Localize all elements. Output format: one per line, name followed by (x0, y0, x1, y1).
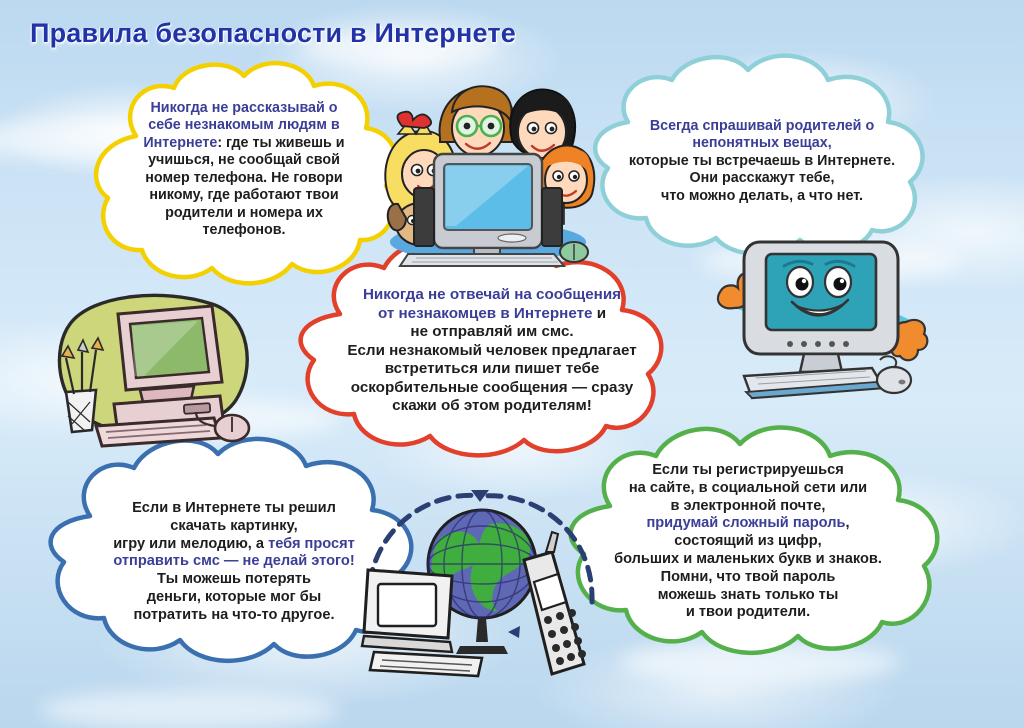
body-text: и (592, 305, 606, 322)
body-text: потратить на что-то другое. (133, 607, 334, 623)
cloud-text-line: Помни, что твой пароль (582, 569, 914, 587)
mascot-keyboard (744, 368, 884, 398)
cloud-text-line: учишься, не сообщай свой (104, 152, 384, 169)
body-text: оскорбительные сообщения — сразу (351, 379, 634, 396)
cloud-text-line: больших и маленьких букв и знаков. (582, 551, 914, 569)
cloud-text-line: в электронной почте, (582, 498, 914, 516)
highlighted-text: себе незнакомым людям в (148, 117, 339, 133)
cloud-text-line: можешь знать только ты (582, 587, 914, 605)
highlighted-text: непонятных вещах, (692, 135, 831, 151)
body-text: на сайте, в социальной сети или (629, 480, 867, 496)
cloud-text-line: встретиться или пишет тебе (304, 360, 680, 379)
cloud-text-line: никому, где работают твои (104, 187, 384, 204)
highlighted-text: отправить смс — не делай этого! (113, 553, 354, 569)
body-text: состоящий из цифр, (674, 533, 821, 549)
body-text: : где ты живешь и (217, 135, 344, 151)
body-text: что можно делать, а что нет. (661, 188, 863, 204)
cloud-text-line: Всегда спрашивай родителей о (598, 118, 926, 135)
cloud-text-line: состоящий из цифр, (582, 533, 914, 551)
body-text: номер телефона. Не говори (145, 170, 342, 186)
cloud-text-line: скачать картинку, (72, 518, 396, 536)
cloud-text-line: придумай сложный пароль, (582, 515, 914, 533)
cloud-text-line: Никогда не рассказывай о (104, 100, 384, 117)
cloud-text-line: от незнакомцев в Интернете и (304, 305, 680, 324)
body-text: телефонов. (203, 222, 286, 238)
body-text: Если в Интернете ты решил (132, 500, 336, 516)
body-text: в электронной почте, (671, 498, 826, 514)
body-text: больших и маленьких букв и знаков. (614, 551, 882, 567)
computer-mascot-illustration (716, 232, 926, 414)
body-text: Если незнакомый человек предлагает (347, 342, 636, 359)
body-text: деньги, которые мог бы (147, 589, 322, 605)
cloud-text-bottom-left: Если в Интернете ты решилскачать картинк… (72, 500, 396, 625)
cloud-text-line: игру или мелодию, а тебя просят (72, 536, 396, 554)
cloud-text-line: телефонов. (104, 222, 384, 239)
globe-network-illustration (356, 486, 604, 682)
cloud-text-line: оскорбительные сообщения — сразу (304, 379, 680, 398)
cloud-text-line: Никогда не отвечай на сообщения (304, 286, 680, 305)
body-text: никому, где работают твои (149, 187, 338, 203)
highlighted-text: Никогда не рассказывай о (150, 100, 337, 116)
body-text: Они расскажут тебе, (690, 170, 835, 186)
highlighted-text: придумай сложный пароль (646, 515, 845, 531)
cloud-text-line: которые ты встречаешь в Интернете. (598, 153, 926, 170)
highlighted-text: Интернете (143, 135, 217, 151)
highlighted-text: от незнакомцев в Интернете (378, 305, 593, 322)
keyboard (400, 254, 564, 266)
cloud-text-line: потратить на что-то другое. (72, 607, 396, 625)
kids-at-computer-illustration (378, 76, 594, 266)
cloud-text-line: на сайте, в социальной сети или (582, 480, 914, 498)
poster-canvas: Правила безопасности в Интернете (0, 0, 1024, 728)
cloud-text-line: Если в Интернете ты решил (72, 500, 396, 518)
body-text: Ты можешь потерять (157, 571, 311, 587)
cloud-text-line: и твои родители. (582, 604, 914, 622)
body-text: игру или мелодию, а (113, 536, 268, 552)
body-text: скажи об этом родителям! (392, 397, 592, 414)
body-text: встретиться или пишет тебе (385, 360, 600, 377)
cloud-text-line: деньги, которые мог бы (72, 589, 396, 607)
highlighted-text: Всегда спрашивай родителей о (650, 118, 874, 134)
cloud-text-line: Они расскажут тебе, (598, 170, 926, 187)
cloud-text-line: родители и номера их (104, 205, 384, 222)
body-text: , (845, 515, 849, 531)
body-text: учишься, не сообщай свой (148, 152, 340, 168)
body-text: Если ты регистрируешься (652, 462, 844, 478)
body-text: Помни, что твой пароль (661, 569, 836, 585)
body-text: которые ты встречаешь в Интернете. (629, 153, 895, 169)
cloud-text-line: Если ты регистрируешься (582, 462, 914, 480)
page-title: Правила безопасности в Интернете (30, 18, 516, 49)
mascot-mouse (877, 356, 911, 393)
cloud-text-line: Интернете: где ты живешь и (104, 135, 384, 152)
cloud-text-line: Ты можешь потерять (72, 571, 396, 589)
cloud-text-line: не отправляй им смс. (304, 323, 680, 342)
body-text: не отправляй им смс. (410, 323, 573, 340)
cloud-text-line: себе незнакомым людям в (104, 117, 384, 134)
cloud-text-line: что можно делать, а что нет. (598, 188, 926, 205)
body-text: и твои родители. (686, 604, 810, 620)
cloud-text-line: Если незнакомый человек предлагает (304, 342, 680, 361)
cloud-text-center: Никогда не отвечай на сообщенияот незнак… (304, 286, 680, 416)
cloud-text-line: номер телефона. Не говори (104, 170, 384, 187)
cloud-text-line: отправить смс — не делай этого! (72, 553, 396, 571)
body-text: скачать картинку, (170, 518, 297, 534)
cloud-text-line: скажи об этом родителям! (304, 397, 680, 416)
monitor (434, 154, 542, 258)
cloud-text-top-right: Всегда спрашивай родителей онепонятных в… (598, 118, 926, 205)
desk-computer-illustration (44, 286, 256, 468)
body-text: родители и номера их (165, 205, 323, 221)
body-text: можешь знать только ты (658, 587, 839, 603)
highlighted-text: Никогда не отвечай на сообщения (363, 286, 621, 303)
cloud-text-line: непонятных вещах, (598, 135, 926, 152)
cloud-text-bottom-right: Если ты регистрируешьсяна сайте, в социа… (582, 462, 914, 622)
highlighted-text: тебя просят (268, 536, 355, 552)
child-boy-glasses (440, 86, 516, 156)
cloud-text-top-left: Никогда не рассказывай осебе незнакомым … (104, 100, 384, 240)
